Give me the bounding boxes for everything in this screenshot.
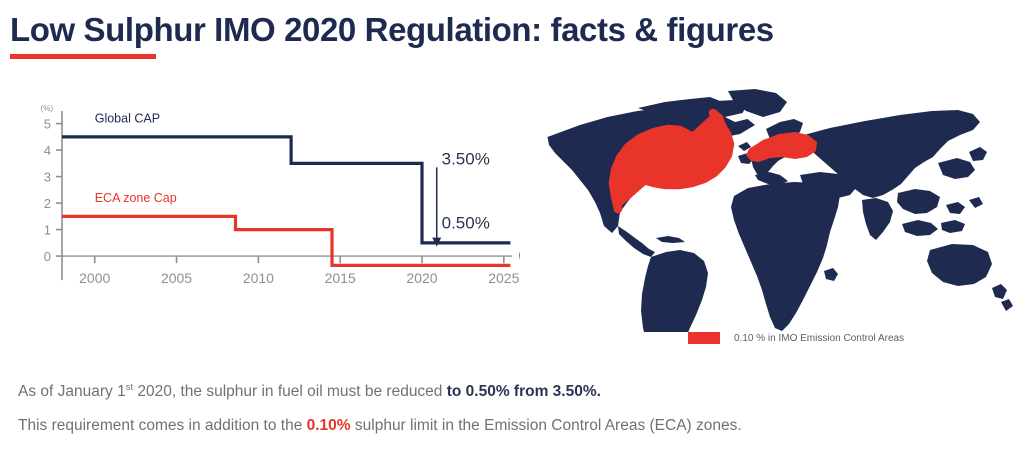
- map-africa: [731, 182, 840, 331]
- map-japan: [969, 147, 987, 161]
- footnote-1-strong: to 0.50% from 3.50%.: [447, 383, 601, 400]
- footnote-2: This requirement comes in addition to th…: [18, 416, 1008, 437]
- map-legend: 0.10 % in IMO Emission Control Areas: [688, 332, 904, 344]
- footnote-1: As of January 1st 2020, the sulphur in f…: [18, 382, 1008, 403]
- map-indonesia-east: [941, 220, 965, 233]
- world-map-panel: [520, 82, 1020, 332]
- map-east-china: [938, 158, 975, 179]
- y-tick-label: 5: [44, 117, 51, 132]
- x-tick-label: 2005: [161, 270, 192, 286]
- x-tick-label: 2015: [325, 270, 356, 286]
- map-philippines-south: [969, 197, 983, 208]
- map-australia: [927, 244, 992, 286]
- footnote-1-ordinal-suffix: st: [126, 382, 133, 393]
- map-new-zealand-north: [992, 284, 1007, 299]
- x-tick-label: 2000: [79, 270, 110, 286]
- y-tick-label: 2: [44, 196, 51, 211]
- map-madagascar: [824, 268, 838, 281]
- map-indonesia-west: [902, 220, 938, 236]
- footnote-2-highlight: 0.10%: [307, 417, 351, 434]
- page-title: Low Sulphur IMO 2020 Regulation: facts &…: [10, 12, 830, 48]
- footnote-2-text-2: sulphur limit in the Emission Control Ar…: [351, 417, 742, 434]
- series-label-global-cap: Global CAP: [95, 111, 160, 125]
- annotation-global-cap-before: 3.50%: [442, 150, 490, 169]
- world-map-svg: [520, 82, 1020, 332]
- x-tick-label: 2025: [488, 270, 519, 286]
- map-south-america: [641, 250, 708, 332]
- footnote-1-text-2: 2020, the sulphur in fuel oil must be re…: [133, 383, 447, 400]
- y-tick-label: 4: [44, 143, 51, 158]
- sulphur-cap-step-chart: 012345(%)200020052010201520202025Global …: [20, 95, 520, 310]
- title-block: Low Sulphur IMO 2020 Regulation: facts &…: [10, 12, 830, 59]
- footnote-1-text-0: As of January 1: [18, 383, 126, 400]
- legend-swatch-eca: [688, 332, 720, 344]
- map-india: [862, 198, 893, 240]
- map-central-america: [618, 226, 655, 257]
- title-underline-rule: [10, 54, 156, 59]
- map-caribbean-isles: [656, 236, 685, 243]
- y-tick-label: 3: [44, 170, 51, 185]
- x-tick-label: 2010: [243, 270, 274, 286]
- y-tick-label: 0: [44, 249, 51, 264]
- chart-svg: 012345(%)200020052010201520202025Global …: [20, 95, 520, 310]
- map-new-zealand-south: [1001, 299, 1013, 311]
- footnote-2-text-0: This requirement comes in addition to th…: [18, 417, 307, 434]
- chart-render-group: 012345(%)200020052010201520202025Global …: [41, 104, 520, 286]
- x-tick-label: 2020: [406, 270, 437, 286]
- legend-label-eca: 0.10 % in IMO Emission Control Areas: [734, 333, 904, 344]
- series-label-eca-zone-cap: ECA zone Cap: [95, 191, 177, 205]
- map-southeast-asia: [897, 189, 940, 214]
- annotation-global-cap-after: 0.50%: [442, 213, 490, 232]
- y-tick-label: 1: [44, 223, 51, 238]
- map-philippines: [946, 202, 965, 214]
- y-axis-unit-label: (%): [41, 104, 54, 113]
- footnotes-block: As of January 1st 2020, the sulphur in f…: [18, 382, 1008, 450]
